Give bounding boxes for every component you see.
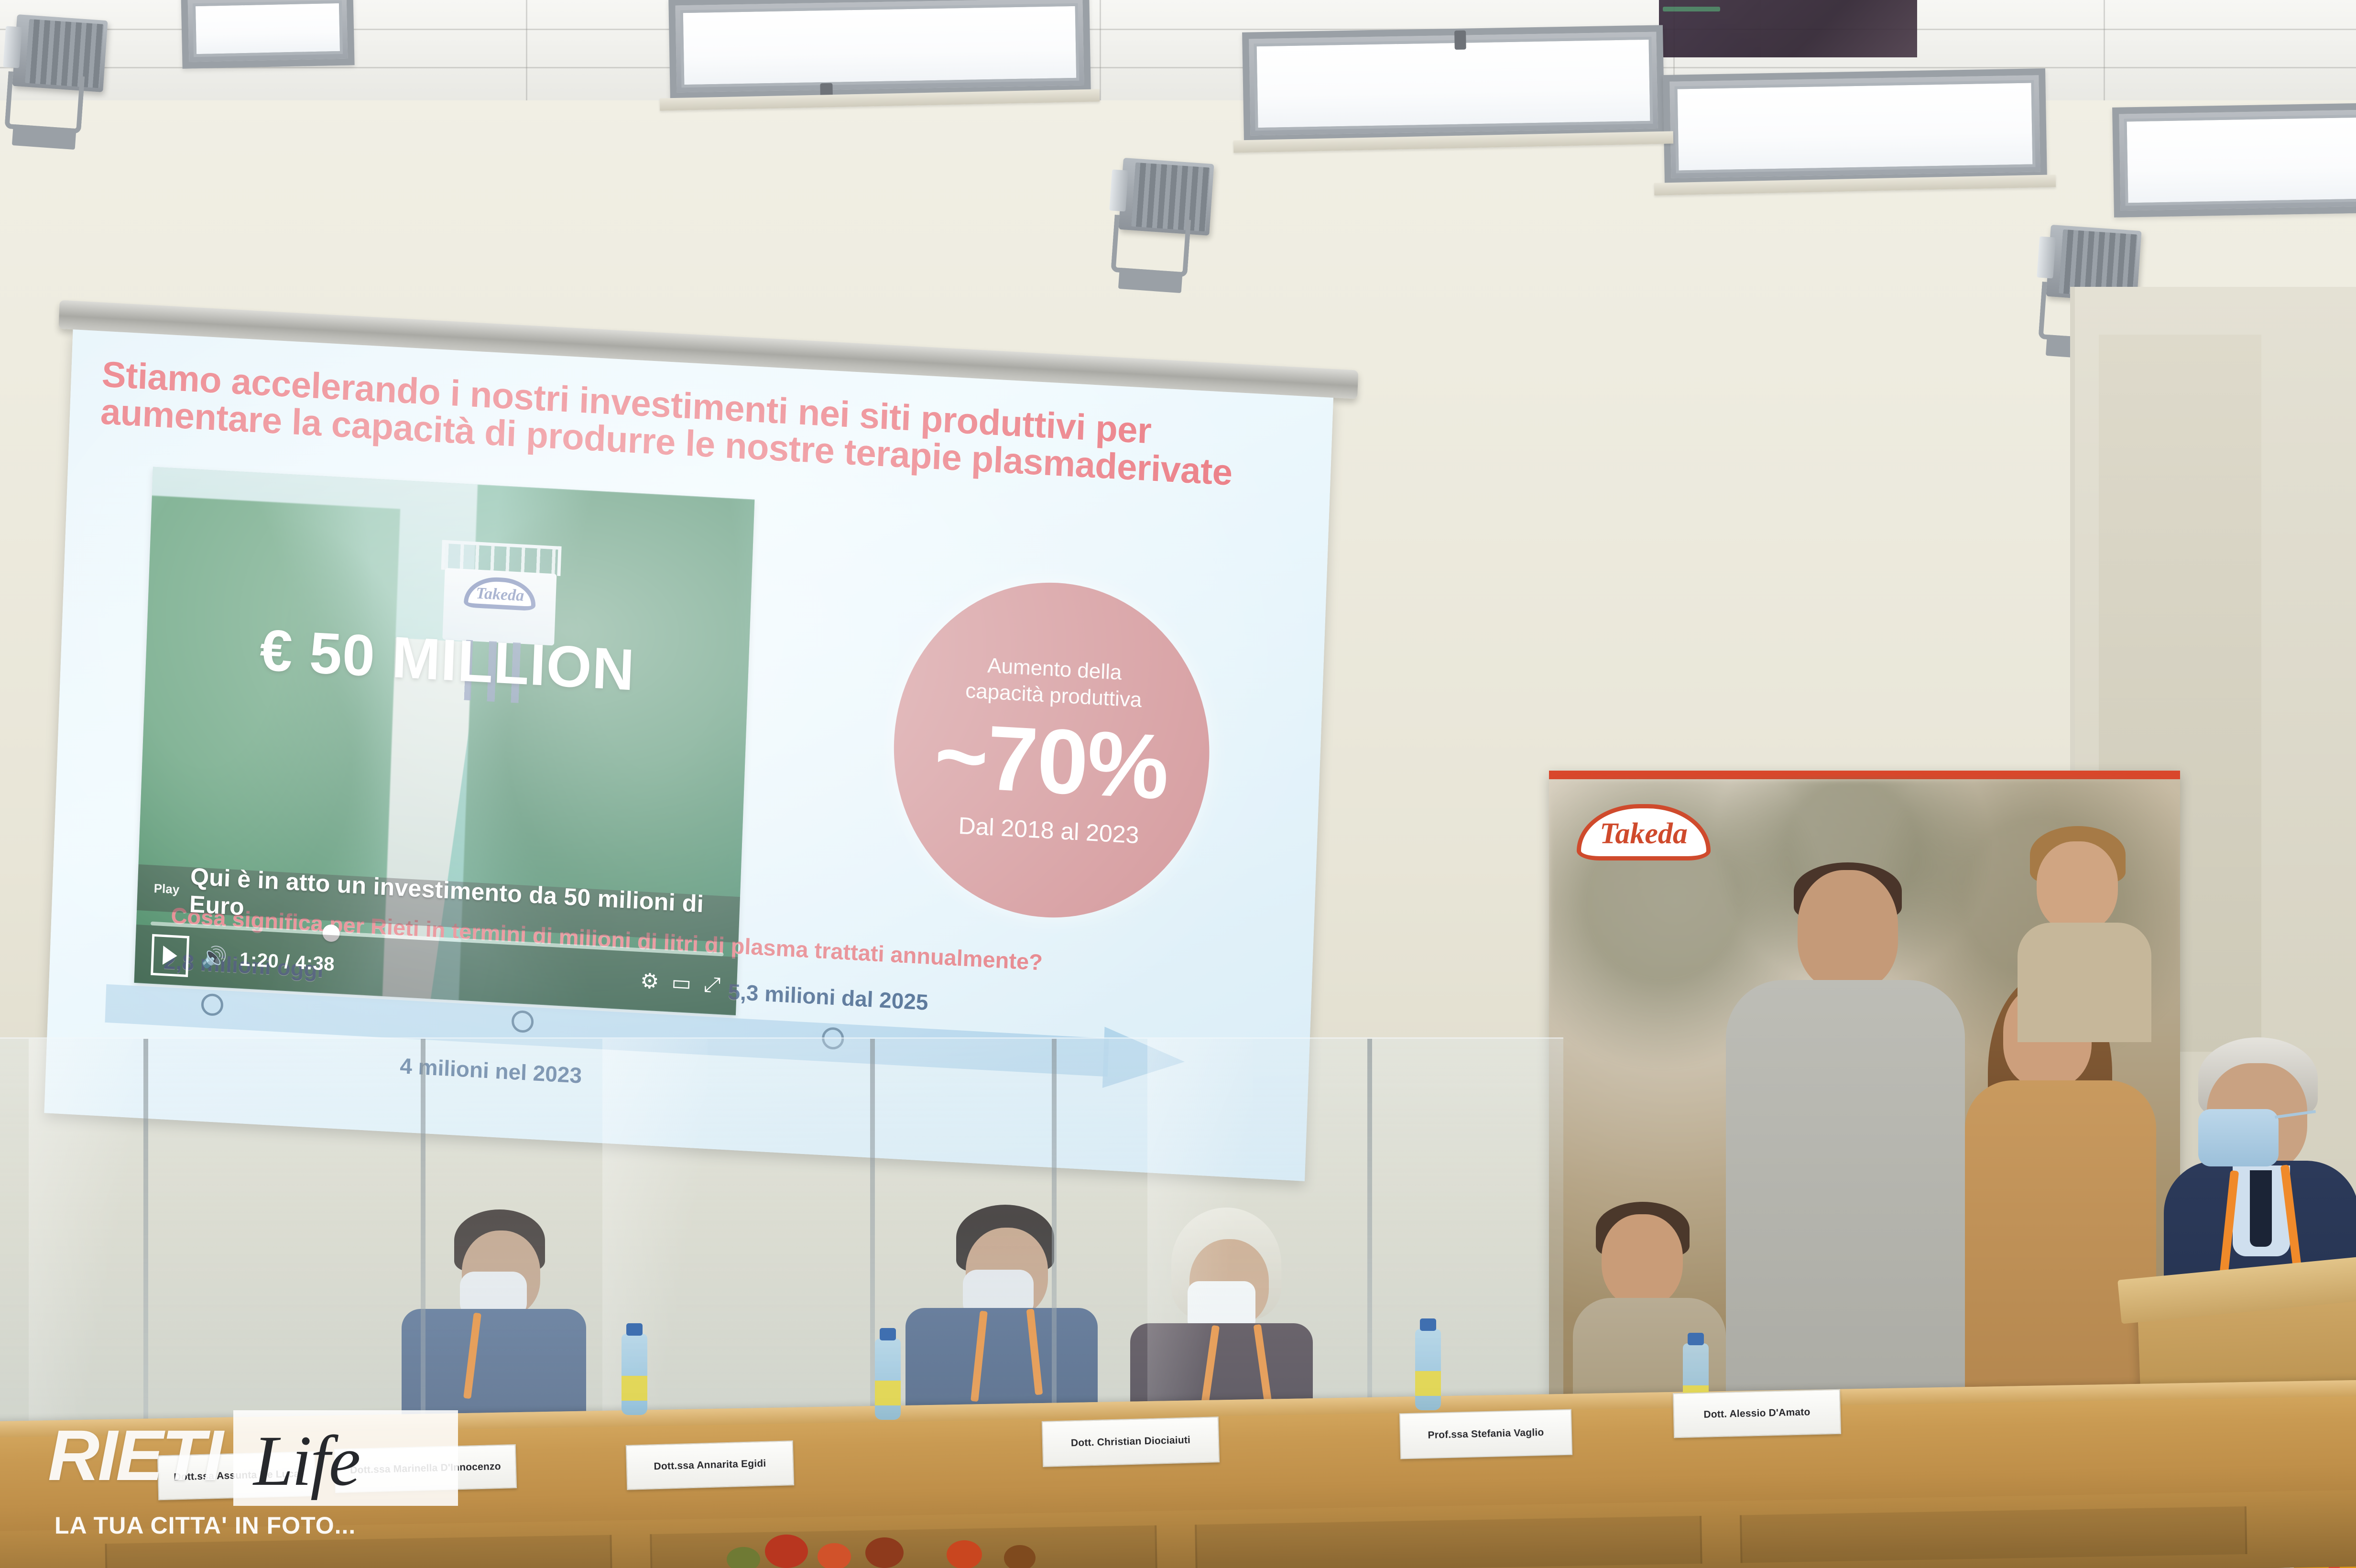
banner-man [1721, 870, 1970, 1454]
water-bottle-1 [622, 1334, 647, 1415]
floodlight-1 [12, 14, 108, 92]
stat-value: ~70% [933, 709, 1169, 813]
ceiling-vent [1659, 0, 1917, 57]
window-4 [1663, 68, 2047, 185]
nameplate-3-text: Dott.ssa Annarita Egidi [654, 1458, 766, 1473]
takeda-rollup-banner: Takeda [1549, 771, 2180, 1454]
water-bottle-3 [1415, 1329, 1441, 1410]
banner-takeda-logo-icon: Takeda [1577, 804, 1711, 860]
flower-arrangement [708, 1515, 1119, 1568]
water-bottle-2 [875, 1339, 901, 1420]
rietilife-watermark: RIETI Life LA TUA CITTA' IN FOTO... [48, 1410, 516, 1554]
watermark-brand-primary: RIETI [48, 1414, 221, 1497]
nameplate-4-text: Dott. Christian Diociaiuti [1071, 1435, 1191, 1449]
captions-icon[interactable]: ▭ [671, 972, 692, 994]
banner-takeda-logo-text: Takeda [1577, 804, 1711, 860]
face-mask-icon [2198, 1109, 2279, 1166]
timeline-label-3: 5,3 milioni dal 2025 [728, 979, 929, 1015]
watermark-brand-secondary: Life [253, 1420, 359, 1502]
gear-icon[interactable]: ⚙ [640, 970, 659, 992]
watermark-tagline: LA TUA CITTA' IN FOTO... [55, 1512, 356, 1539]
volume-icon[interactable]: 🔊 [201, 947, 228, 969]
floodlight-2 [1119, 158, 1214, 236]
play-icon[interactable] [151, 934, 189, 977]
nameplate-4: Dott. Christian Diociaiuti [1042, 1416, 1220, 1467]
fullscreen-icon[interactable]: ⤢ [703, 974, 721, 996]
window-5 [2112, 103, 2356, 218]
banner-family-photo [1549, 779, 2180, 1454]
nameplate-6-text: Dott. Alessio D'Amato [1703, 1406, 1811, 1420]
takeda-logo-icon: Takeda [464, 576, 536, 611]
plexiglass-barrier [0, 1037, 1563, 1434]
takeda-logo-text: Takeda [464, 576, 536, 611]
nameplate-6: Dott. Alessio D'Amato [1673, 1389, 1841, 1438]
stat-period: Dal 2018 al 2023 [958, 812, 1140, 849]
nameplate-5-text: Prof.ssa Stefania Vaglio [1428, 1427, 1544, 1441]
nameplate-3: Dott.ssa Annarita Egidi [626, 1440, 794, 1490]
window-1 [181, 0, 354, 69]
video-play-label: Play [153, 881, 180, 897]
conference-photo-scene: Stiamo accelerando i nostri investimenti… [0, 0, 2356, 1568]
window-3 [1242, 25, 1665, 142]
capacity-stat-circle: Aumento della capacità produttiva ~70% D… [888, 574, 1215, 926]
nameplate-5: Prof.ssa Stefania Vaglio [1399, 1409, 1572, 1459]
video-time-display: 1:20 / 4:38 [239, 948, 335, 975]
banner-toddler [2003, 822, 2166, 1042]
window-2 [668, 0, 1091, 99]
